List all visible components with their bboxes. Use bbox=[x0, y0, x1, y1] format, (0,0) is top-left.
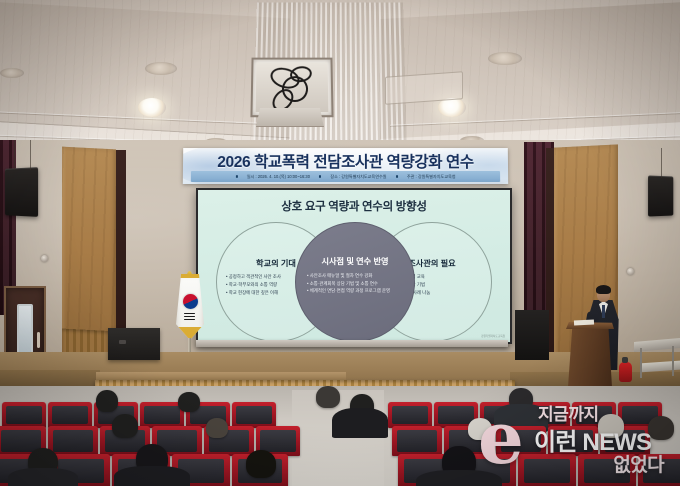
ceiling-light-ring bbox=[145, 62, 177, 75]
seat bbox=[496, 426, 546, 456]
seat bbox=[392, 426, 442, 456]
door-handle[interactable] bbox=[37, 332, 40, 348]
ceiling-light-ring bbox=[0, 68, 24, 78]
extinguisher-nozzle bbox=[622, 357, 628, 363]
taeguk-symbol-icon bbox=[183, 294, 198, 309]
audience-shoulders bbox=[332, 408, 388, 438]
table-leg bbox=[672, 346, 674, 376]
audience-head bbox=[96, 390, 118, 412]
banner-subitem: 주관 : 강원특별자치도교육청 bbox=[407, 173, 456, 179]
bullet-dot-icon bbox=[396, 175, 398, 177]
audience-shoulders bbox=[114, 466, 190, 486]
trigram-bar bbox=[184, 316, 195, 317]
table-leg bbox=[640, 348, 642, 378]
ceiling-texture bbox=[0, 0, 680, 152]
podium bbox=[568, 325, 612, 387]
fire-extinguisher-icon bbox=[619, 362, 632, 382]
speaker-tie bbox=[602, 305, 605, 318]
venn-diagram: 학교의 기대 • 공정하고 객관적인 사안 조사 • 학교·학부모와의 소통 역… bbox=[198, 216, 510, 328]
cabinet-detail bbox=[119, 340, 126, 344]
trigram-bar bbox=[184, 319, 195, 320]
ceiling bbox=[0, 0, 680, 152]
speaker-wire bbox=[30, 140, 31, 170]
trigram-bar bbox=[184, 313, 195, 314]
ceiling-vent bbox=[385, 71, 463, 104]
seat bbox=[48, 426, 98, 456]
seat bbox=[232, 402, 276, 428]
venn-bullet: • 사안조사 매뉴얼 및 절차 연수 강화 bbox=[307, 272, 403, 280]
seat bbox=[48, 402, 92, 428]
audience-head bbox=[648, 416, 674, 440]
wall-fixture bbox=[627, 268, 634, 275]
projection-screen: 상호 요구 역량과 연수의 방향성 학교의 기대 • 공정하고 객관적인 사안 … bbox=[196, 188, 512, 344]
audience-head bbox=[468, 418, 492, 440]
ceiling-downlight bbox=[138, 98, 166, 117]
audience-head bbox=[112, 414, 138, 438]
ceiling-downlight bbox=[438, 98, 466, 117]
audience-shoulders bbox=[416, 470, 502, 486]
screen-bottom-bar bbox=[196, 340, 508, 347]
projector-lens-plate bbox=[256, 108, 324, 127]
seat bbox=[2, 402, 46, 428]
event-banner: 2026 학교폭력 전담조사관 역량강화 연수 일시 : 2026. 4. 10… bbox=[183, 148, 508, 184]
right-speaker-icon bbox=[648, 175, 673, 216]
seat bbox=[638, 454, 680, 486]
slide-content: 상호 요구 역량과 연수의 방향성 학교의 기대 • 공정하고 객관적인 사안 … bbox=[198, 190, 510, 342]
audience-head bbox=[598, 414, 624, 438]
banner-subtitle-bar: 일시 : 2026. 4. 10.(목) 10:00~16:30 장소 : 강원… bbox=[191, 171, 500, 182]
podium-papers bbox=[574, 319, 594, 325]
banner-title: 2026 학교폭력 전담조사관 역량강화 연수 bbox=[183, 150, 508, 172]
audience-head bbox=[178, 392, 200, 412]
bullet-dot-icon bbox=[319, 175, 321, 177]
audience-shoulders bbox=[8, 468, 78, 486]
audience-head bbox=[316, 386, 340, 408]
speaker-hair bbox=[596, 285, 611, 294]
auditorium-photo: 2026 학교폭력 전담조사관 역량강화 연수 일시 : 2026. 4. 10… bbox=[0, 0, 680, 486]
audience-head bbox=[246, 450, 276, 478]
venn-heading: 시사점 및 연수 반영 bbox=[296, 255, 414, 267]
left-speaker-icon bbox=[5, 167, 38, 217]
banner-subitem: 장소 : 강원특별자치도교육연수원 bbox=[330, 173, 386, 179]
slide-credit: 강원특별자치도교육청 bbox=[481, 334, 505, 338]
audience-head bbox=[206, 418, 228, 438]
wall-fixture bbox=[41, 255, 48, 262]
seat bbox=[548, 426, 598, 456]
slide-title: 상호 요구 역량과 연수의 방향성 bbox=[198, 198, 510, 214]
venn-bullet: • 소통·관계회복 상담 기법 및 소통 연수 bbox=[307, 280, 403, 288]
speaker-wire bbox=[661, 148, 662, 178]
seat bbox=[518, 454, 576, 486]
stage-equipment-cabinet bbox=[108, 328, 160, 360]
ceiling-light-ring bbox=[488, 52, 522, 65]
seat bbox=[388, 402, 432, 428]
venn-bullet: • 체계적인 면담·면접 역량 과정 프로그램 운영 bbox=[307, 288, 403, 295]
stage-speaker-box bbox=[515, 310, 549, 360]
bullet-dot-icon bbox=[235, 175, 237, 177]
projector-recess-interior bbox=[256, 62, 329, 112]
venn-bullets: • 사안조사 매뉴얼 및 절차 연수 강화 • 소통·관계회복 상담 기법 및 … bbox=[307, 272, 403, 295]
seat bbox=[578, 454, 636, 486]
speaker-wire bbox=[14, 140, 15, 170]
venn-circle-middle: 시사점 및 연수 반영 • 사안조사 매뉴얼 및 절차 연수 강화 • 소통·관… bbox=[295, 222, 415, 342]
banner-subitem: 일시 : 2026. 4. 10.(목) 10:00~16:30 bbox=[247, 173, 310, 179]
